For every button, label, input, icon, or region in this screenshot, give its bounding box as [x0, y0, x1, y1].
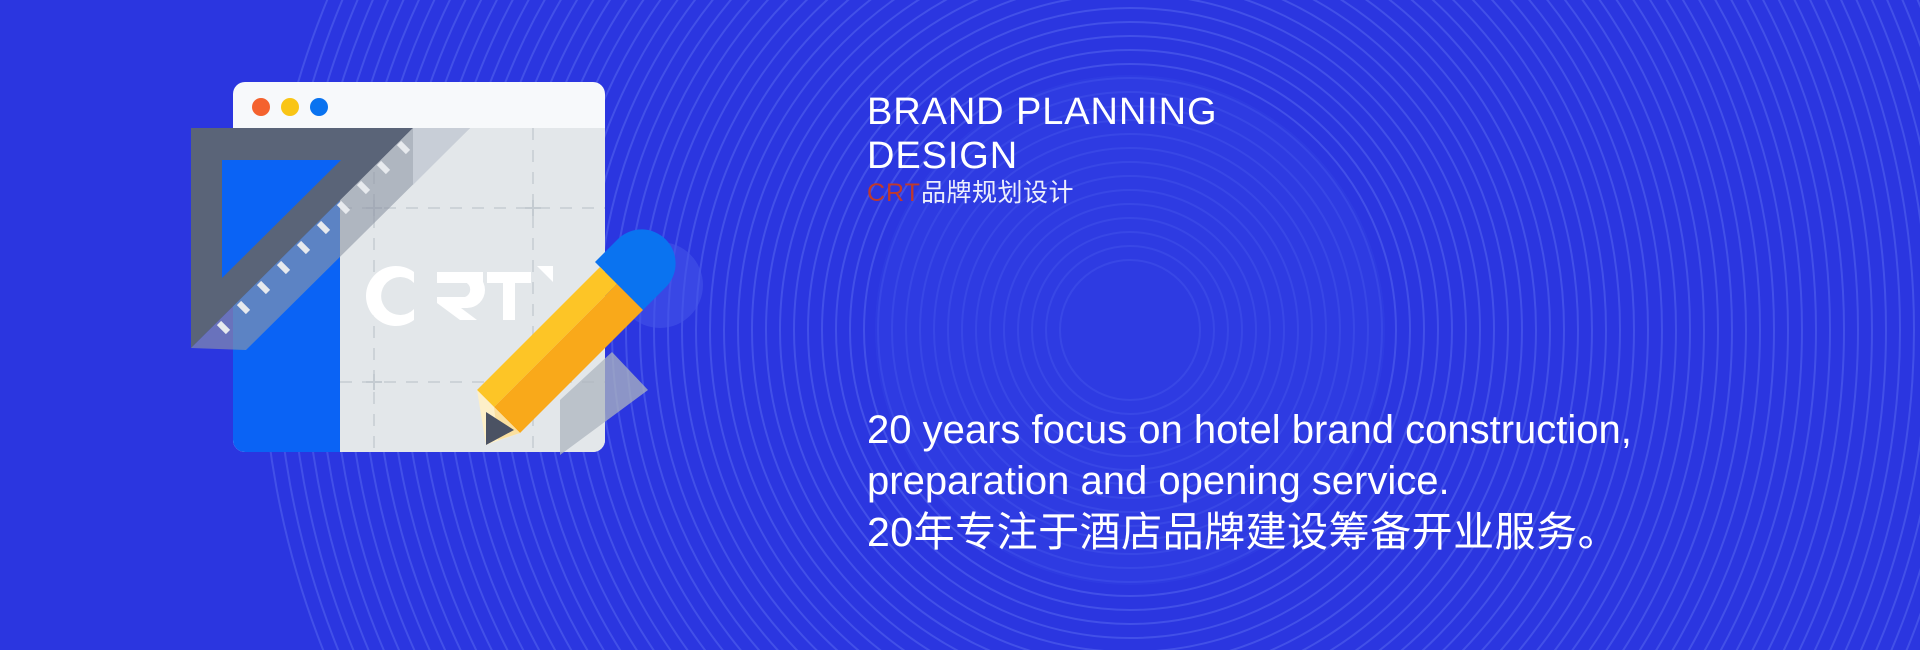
subheading: CRT品牌规划设计: [867, 173, 1074, 209]
brand-name: CRT: [867, 179, 921, 207]
window-title-bar: [252, 98, 328, 116]
minimize-dot-icon[interactable]: [281, 98, 299, 116]
maximize-dot-icon[interactable]: [310, 98, 328, 116]
subheading-chinese: 品牌规划设计: [921, 179, 1074, 207]
page-title: BRAND PLANNING DESIGN: [867, 90, 1467, 179]
illustration-svg: [0, 0, 860, 650]
tagline-english: 20 years focus on hotel brand constructi…: [867, 405, 1797, 507]
tagline-chinese: 20年专注于酒店品牌建设筹备开业服务。: [867, 508, 1619, 557]
hero-illustration: [0, 0, 860, 650]
brand-banner: BRAND PLANNING DESIGN CRT品牌规划设计 20 years…: [0, 0, 1920, 650]
close-dot-icon[interactable]: [252, 98, 270, 116]
copy-block: BRAND PLANNING DESIGN CRT品牌规划设计 20 years…: [857, 0, 1857, 650]
